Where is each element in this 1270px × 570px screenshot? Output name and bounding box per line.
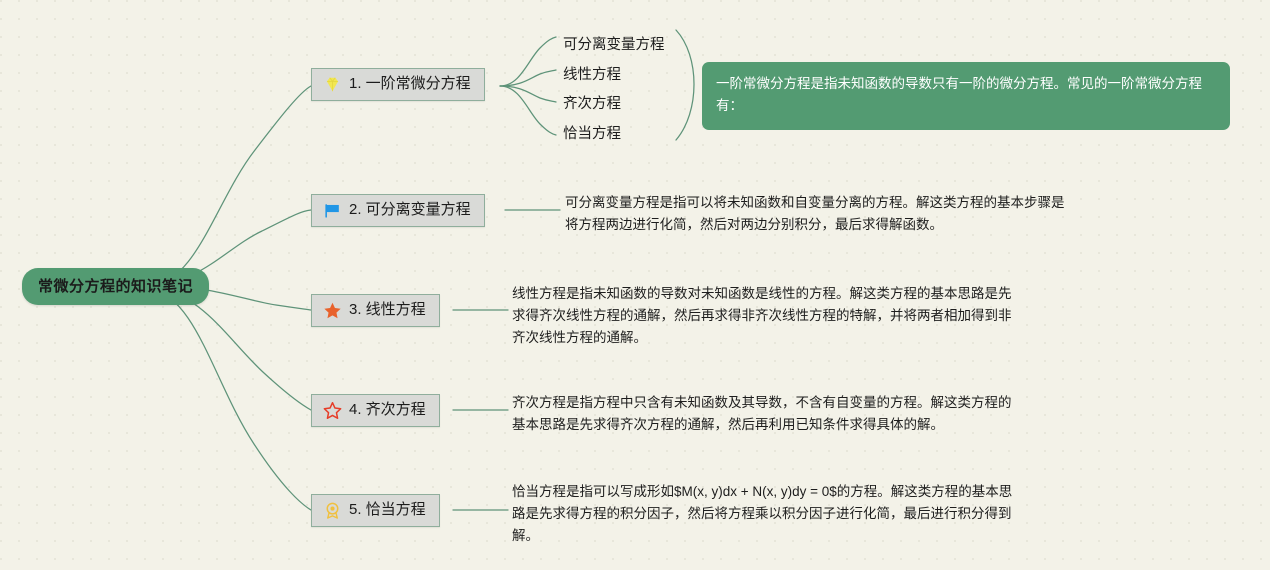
description-text: 恰当方程是指可以写成形如$M(x, y)dx + N(x, y)dy = 0$的… bbox=[512, 484, 1012, 543]
description-text: 齐次方程是指方程中只含有未知函数及其导数，不含有自变量的方程。解这类方程的基本思… bbox=[512, 395, 1012, 432]
note-box-text: 一阶常微分方程是指未知函数的导数只有一阶的微分方程。常见的一阶常微分方程有： bbox=[716, 76, 1202, 113]
branch-node-label: 4. 齐次方程 bbox=[349, 402, 426, 419]
branch-node-exact-equation[interactable]: 5. 恰当方程 bbox=[311, 494, 440, 527]
description-exact-equation: 恰当方程是指可以写成形如$M(x, y)dx + N(x, y)dy = 0$的… bbox=[512, 481, 1017, 547]
sub-item-label: 齐次方程 bbox=[563, 96, 621, 112]
sub-item-exact[interactable]: 恰当方程 bbox=[563, 122, 621, 143]
edge-root-to-branch-5 bbox=[150, 289, 311, 510]
flag-icon bbox=[323, 201, 342, 220]
sub-item-separable[interactable]: 可分离变量方程 bbox=[563, 33, 665, 54]
branch-node-label: 5. 恰当方程 bbox=[349, 502, 426, 519]
branch-node-separable-equation[interactable]: 2. 可分离变量方程 bbox=[311, 194, 485, 227]
star-filled-icon bbox=[323, 301, 342, 320]
description-linear-equation: 线性方程是指未知函数的导数对未知函数是线性的方程。解这类方程的基本思路是先求得齐… bbox=[512, 283, 1012, 349]
branch-node-label: 3. 线性方程 bbox=[349, 302, 426, 319]
branch-node-homogeneous-equation[interactable]: 4. 齐次方程 bbox=[311, 394, 440, 427]
root-node-label: 常微分方程的知识笔记 bbox=[38, 278, 193, 295]
edge-branch1-to-sub-1 bbox=[500, 37, 556, 86]
sub-item-linear[interactable]: 线性方程 bbox=[563, 63, 621, 84]
sub-item-label: 线性方程 bbox=[563, 67, 621, 83]
edge-root-to-branch-1 bbox=[150, 86, 311, 285]
description-text: 可分离变量方程是指可以将未知函数和自变量分离的方程。解这类方程的基本步骤是将方程… bbox=[565, 195, 1065, 232]
star-outline-icon bbox=[323, 401, 342, 420]
branch-node-linear-equation[interactable]: 3. 线性方程 bbox=[311, 294, 440, 327]
sub-item-homogeneous[interactable]: 齐次方程 bbox=[563, 92, 621, 113]
branch-node-first-order-ode[interactable]: 1. 一阶常微分方程 bbox=[311, 68, 485, 101]
gem-icon bbox=[323, 75, 342, 94]
description-separable-equation: 可分离变量方程是指可以将未知函数和自变量分离的方程。解这类方程的基本步骤是将方程… bbox=[565, 192, 1065, 236]
branch-node-label: 1. 一阶常微分方程 bbox=[349, 76, 471, 93]
edge-branch1-to-sub-4 bbox=[500, 86, 556, 135]
edge-branch1-to-sub-3 bbox=[500, 86, 556, 102]
edge-root-to-branch-4 bbox=[150, 287, 311, 410]
note-box-first-order-ode: 一阶常微分方程是指未知函数的导数只有一阶的微分方程。常见的一阶常微分方程有： bbox=[702, 62, 1230, 130]
description-text: 线性方程是指未知函数的导数对未知函数是线性的方程。解这类方程的基本思路是先求得齐… bbox=[512, 286, 1012, 345]
description-homogeneous-equation: 齐次方程是指方程中只含有未知函数及其导数，不含有自变量的方程。解这类方程的基本思… bbox=[512, 392, 1017, 436]
medal-icon bbox=[323, 501, 342, 520]
edge-subitems-brace-to-note bbox=[676, 30, 694, 140]
branch-node-label: 2. 可分离变量方程 bbox=[349, 202, 471, 219]
mindmap-canvas: 常微分方程的知识笔记 1. 一阶常微分方程 可分离变量方程 线性方程 齐次方程 … bbox=[0, 0, 1270, 570]
sub-item-label: 可分离变量方程 bbox=[563, 37, 665, 53]
sub-item-label: 恰当方程 bbox=[563, 126, 621, 142]
root-node[interactable]: 常微分方程的知识笔记 bbox=[22, 268, 209, 305]
edge-branch1-to-sub-2 bbox=[500, 70, 556, 86]
